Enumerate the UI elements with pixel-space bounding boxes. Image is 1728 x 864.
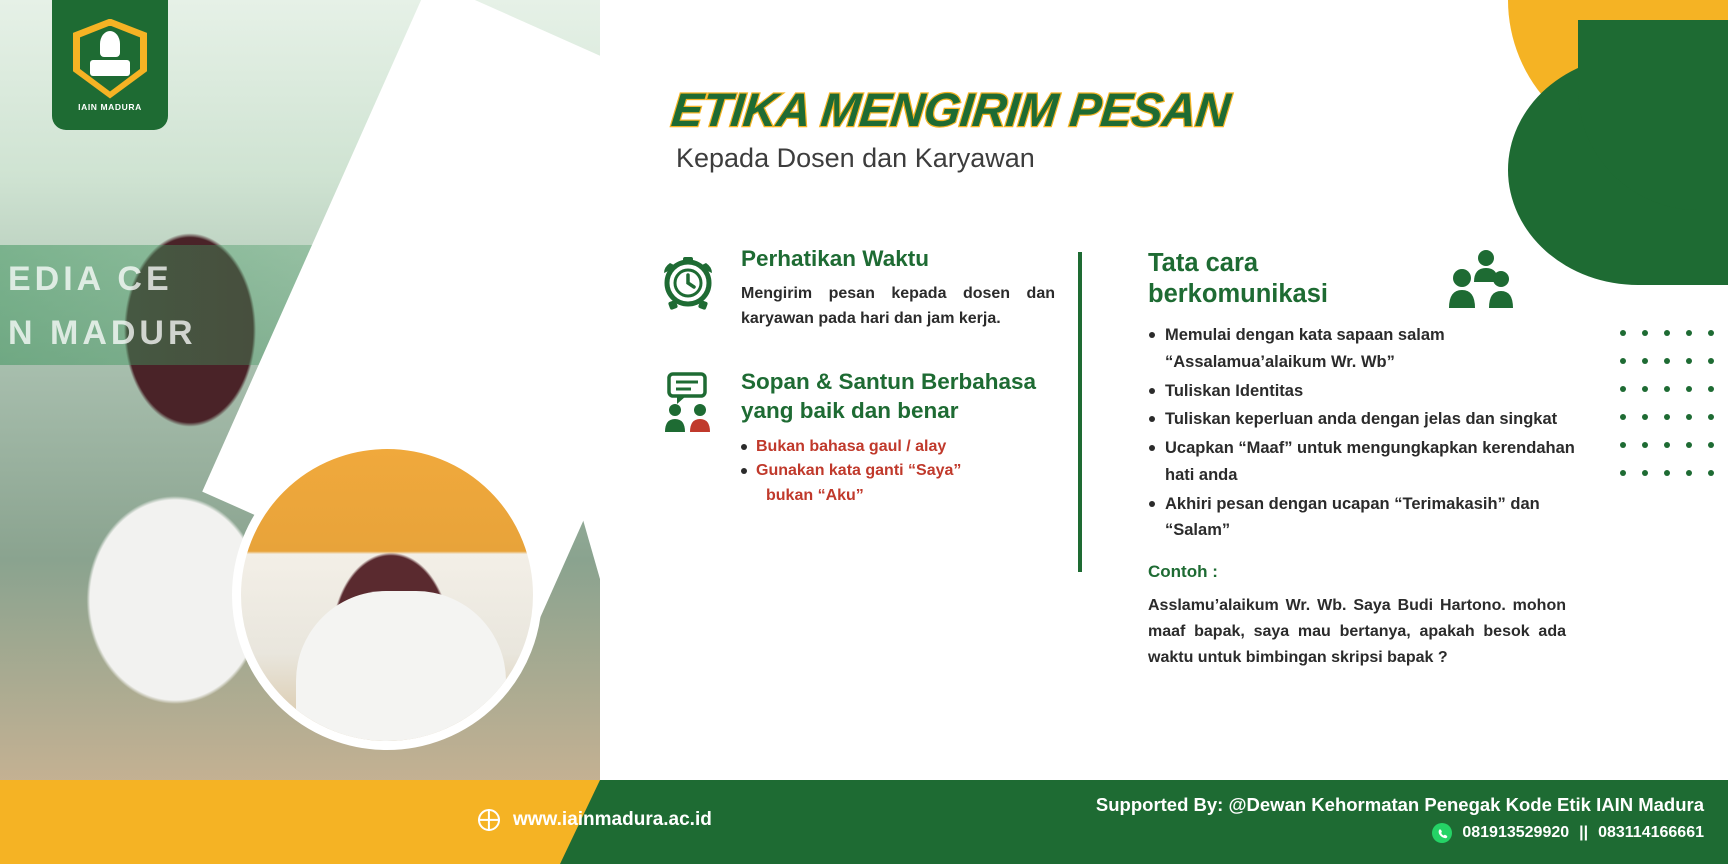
tip-item-sopan: Sopan & Santun Berbahasa yang baik dan b… — [655, 368, 1055, 509]
list-item: Bukan bahasa gaul / alay — [741, 435, 1055, 460]
photo-background-text: EDIA CE N MADUR — [8, 252, 197, 360]
logo-label: IAIN MADURA — [78, 102, 142, 112]
list-item: Memulai dengan kata sapaan salam “Assala… — [1148, 322, 1578, 375]
logo-dome-icon — [100, 31, 120, 57]
polite-speech-icon — [655, 370, 721, 434]
logo-inner: IAIN MADURA — [64, 13, 156, 117]
website-link[interactable]: www.iainmadura.ac.id — [478, 809, 712, 831]
website-label: www.iainmadura.ac.id — [513, 809, 712, 831]
phone-number-2[interactable]: 083114166661 — [1598, 824, 1704, 842]
page-subtitle: Kepada Dosen dan Karyawan — [676, 143, 1035, 174]
tip-heading: Perhatikan Waktu — [741, 245, 1055, 274]
logo-shield-inner — [80, 26, 140, 92]
page-title: ETIKA MENGIRIM PESAN — [669, 82, 1232, 137]
tip-body: Mengirim pesan kepada dosen dan karyawan… — [741, 281, 1055, 332]
poster-root: EDIA CE N MADUR IAIN MADURA ETIKA MENGIR… — [0, 0, 1728, 864]
photo-ghost-line-1: EDIA CE — [8, 252, 197, 306]
example-label: Contoh : — [1148, 562, 1578, 582]
list-item: Tuliskan keperluan anda dengan jelas dan… — [1148, 406, 1578, 433]
phone-number-1[interactable]: 081913529920 — [1462, 824, 1569, 842]
list-item: Gunakan kata ganti “Saya” bukan “Aku” — [741, 459, 1055, 509]
supported-by-text: Supported By: @Dewan Kehormatan Penegak … — [1096, 794, 1704, 816]
tip-bullet-list: Bukan bahasa gaul / alay Gunakan kata ga… — [741, 435, 1055, 509]
right-content-column: Tata cara berkomunikasi Memulai dengan k… — [1148, 248, 1578, 671]
list-item: Tuliskan Identitas — [1148, 378, 1578, 405]
whatsapp-icon — [1432, 823, 1452, 843]
bullet-sub: bukan “Aku” — [756, 484, 1055, 509]
bullet-main: Bukan bahasa gaul / alay — [756, 438, 946, 455]
bullet-main: Gunakan kata ganti “Saya” — [756, 462, 961, 479]
communication-steps-list: Memulai dengan kata sapaan salam “Assala… — [1148, 322, 1578, 544]
logo-shield-icon — [73, 19, 147, 99]
dot-grid-decoration — [1620, 330, 1728, 498]
tip-item-waktu: Perhatikan Waktu Mengirim pesan kepada d… — [655, 245, 1055, 332]
footer-bar: www.iainmadura.ac.id Supported By: @Dewa… — [0, 780, 1728, 864]
logo-book-icon — [90, 60, 130, 76]
phone-separator: || — [1579, 824, 1588, 842]
photo-ghost-line-2: N MADUR — [8, 306, 197, 360]
contact-numbers: 081913529920 || 083114166661 — [1096, 823, 1704, 843]
iain-madura-logo: IAIN MADURA — [52, 0, 168, 130]
globe-icon — [478, 809, 500, 831]
column-divider — [1078, 252, 1082, 572]
footer-credits: Supported By: @Dewan Kehormatan Penegak … — [1096, 794, 1704, 843]
alarm-clock-icon — [655, 247, 721, 311]
right-heading: Tata cara berkomunikasi — [1148, 248, 1428, 310]
example-text: Asslamu’alaikum Wr. Wb. Saya Budi Harton… — [1148, 593, 1566, 671]
list-item: Akhiri pesan dengan ucapan “Terimakasih”… — [1148, 491, 1578, 544]
people-group-icon — [1448, 248, 1520, 310]
left-content-column: Perhatikan Waktu Mengirim pesan kepada d… — [655, 245, 1055, 545]
list-item: Ucapkan “Maaf” untuk mengungkapkan keren… — [1148, 435, 1578, 488]
photo-circle-inset — [232, 440, 542, 750]
tip-heading: Sopan & Santun Berbahasa yang baik dan b… — [741, 368, 1055, 426]
